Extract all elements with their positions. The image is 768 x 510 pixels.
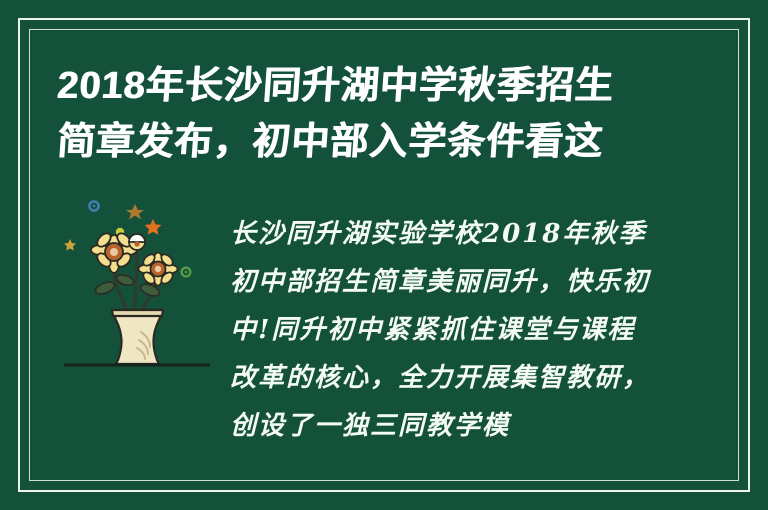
flower-bud-center [129,234,145,250]
leaf-left [94,280,116,297]
sparkle-gold-icon [64,239,76,251]
sparkle-blue-icon [89,201,98,210]
vase [112,310,163,364]
headline-block: 2018年长沙同升湖中学秋季招生 简章发布，初中部入学条件看这 [57,58,667,170]
article-body-text: 长沙同升湖实验学校2018年秋季初中部招生简章美丽同升，快乐初中!同升初中紧紧抓… [230,210,650,450]
sparkle-green-icon [182,268,191,277]
flower-vase-illustration [62,192,212,372]
flower-right [139,252,178,286]
headline-line-2: 简章发布，初中部入学条件看这 [55,114,669,170]
sparkle-brown-icon [126,204,144,220]
stem-center [134,248,137,310]
article-cover-card: 2018年长沙同升湖中学秋季招生 简章发布，初中部入学条件看这 长沙同升湖实验学… [0,0,768,510]
sparkle-orange-icon [145,219,162,235]
headline-line-1: 2018年长沙同升湖中学秋季招生 [55,58,669,114]
